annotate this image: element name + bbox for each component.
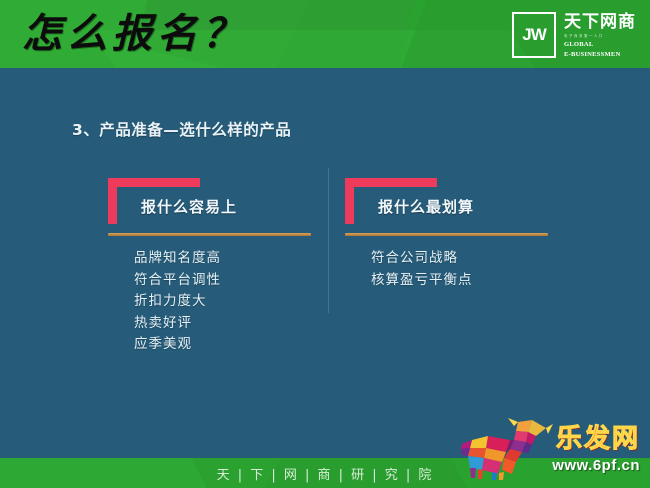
bracket-left-bar [345, 178, 354, 224]
brand-mark-jw: JW [512, 12, 556, 58]
list-item: 符合公司战略 [371, 248, 473, 270]
watermark-url: www.6pf.cn [552, 457, 640, 474]
column-list-right: 符合公司战略 核算盈亏平衡点 [371, 248, 473, 291]
bracket-left-bar [108, 178, 117, 224]
brand-name-cn: 天下网商 [564, 13, 636, 32]
bracket-top-bar [108, 178, 200, 187]
bull-icon [458, 418, 554, 480]
slide-body: 3、产品准备—选什么样的产品 报什么容易上 品牌知名度高 符合平台调性 折扣力度… [0, 68, 650, 458]
list-item: 核算盈亏平衡点 [371, 270, 473, 292]
brand-name-en-line1: GLOBAL [564, 41, 636, 49]
watermark-name: 乐发网 [556, 418, 640, 455]
bracket-top-bar [345, 178, 437, 187]
slide-header: 怎么报名？ JW 天下网商 电子商务第一人口 GLOBAL E-BUSINESS… [0, 0, 650, 68]
brand-name-en-line2: E-BUSINESSMEN [564, 51, 636, 59]
section-heading: 3、产品准备—选什么样的产品 [72, 118, 291, 140]
list-item: 热卖好评 [134, 313, 221, 335]
column-rule-right [345, 233, 548, 236]
brand-subtitle-cn: 电子商务第一人口 [564, 33, 636, 39]
column-rule-left [108, 233, 311, 236]
column-title-right: 报什么最划算 [378, 196, 474, 217]
watermark: 乐发网 www.6pf.cn [458, 412, 644, 482]
column-divider [328, 168, 329, 313]
column-list-left: 品牌知名度高 符合平台调性 折扣力度大 热卖好评 应季美观 [134, 248, 221, 356]
column-title-left: 报什么容易上 [141, 196, 237, 217]
brand-logo: JW 天下网商 电子商务第一人口 GLOBAL E-BUSINESSMEN [512, 12, 636, 60]
list-item: 符合平台调性 [134, 270, 221, 292]
list-item: 应季美观 [134, 334, 221, 356]
list-item: 品牌知名度高 [134, 248, 221, 270]
brand-text-block: 天下网商 电子商务第一人口 GLOBAL E-BUSINESSMEN [564, 12, 636, 60]
slide-title: 怎么报名？ [22, 6, 247, 62]
list-item: 折扣力度大 [134, 291, 221, 313]
slide: 怎么报名？ JW 天下网商 电子商务第一人口 GLOBAL E-BUSINESS… [0, 0, 650, 488]
